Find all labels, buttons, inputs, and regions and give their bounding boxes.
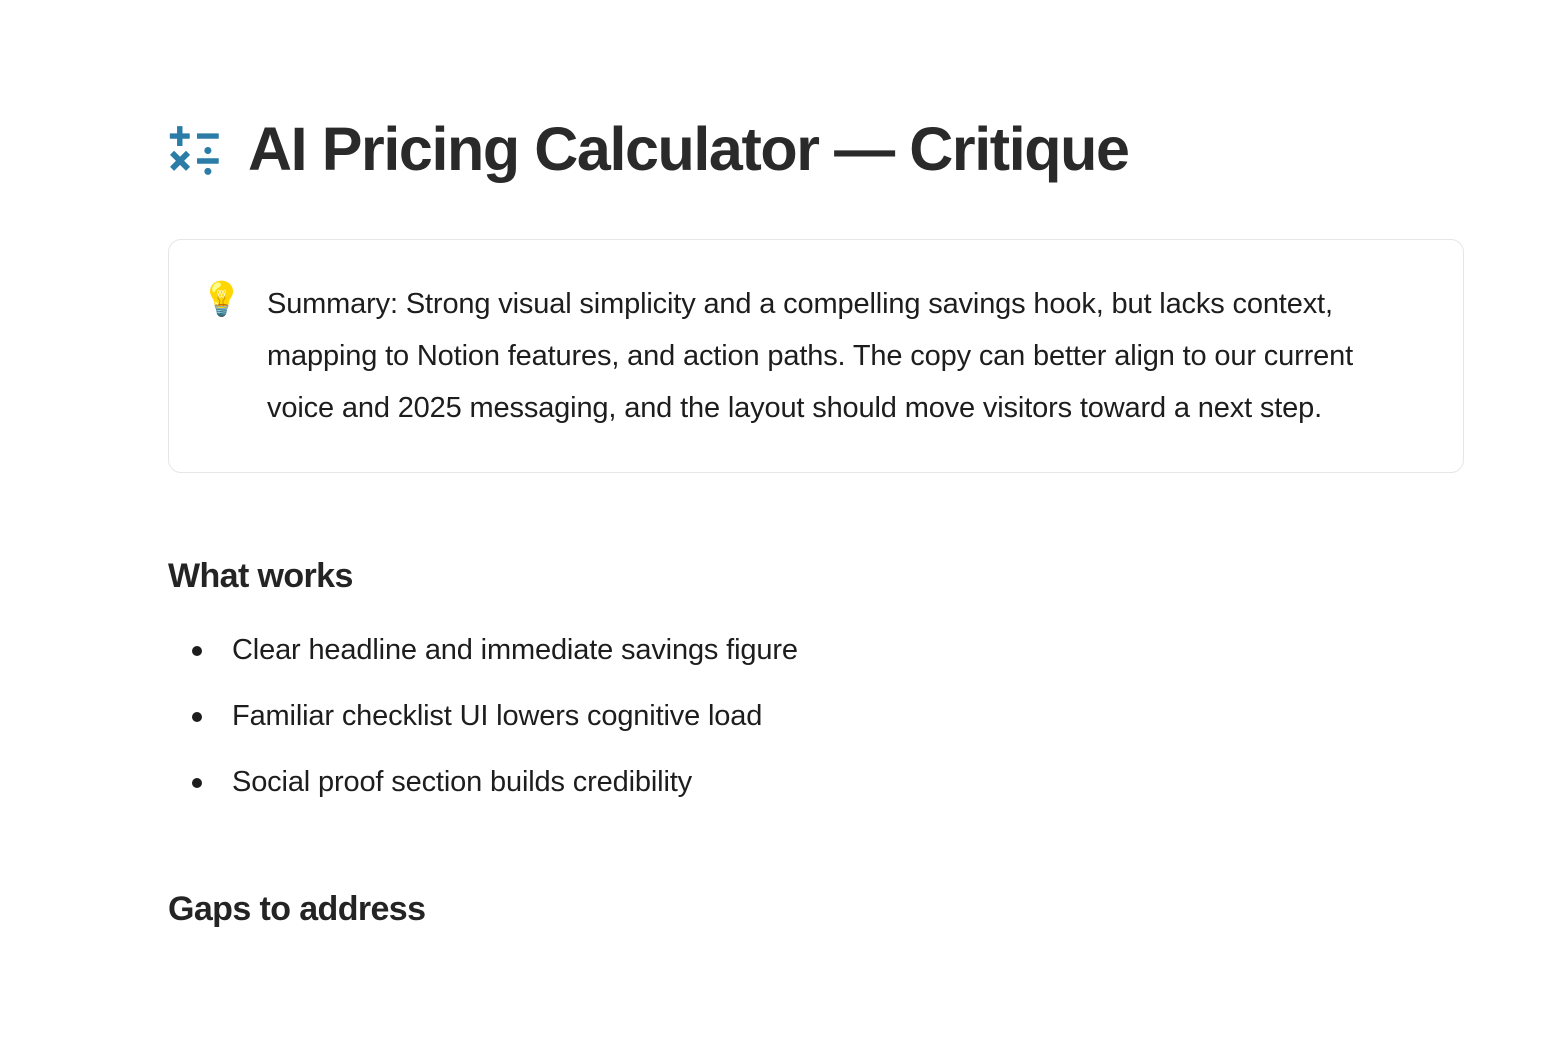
document-content: AI Pricing Calculator — Critique 💡 Summa… bbox=[168, 0, 1464, 929]
page-title: AI Pricing Calculator — Critique bbox=[248, 117, 1129, 181]
page-header: AI Pricing Calculator — Critique bbox=[168, 106, 1464, 192]
bullet-dot-icon bbox=[192, 646, 202, 656]
list-item: Clear headline and immediate savings fig… bbox=[168, 630, 1464, 670]
summary-callout: 💡 Summary: Strong visual simplicity and … bbox=[168, 239, 1464, 473]
section-heading-gaps: Gaps to address bbox=[168, 890, 1464, 929]
document-page: AI Pricing Calculator — Critique 💡 Summa… bbox=[0, 0, 1560, 1040]
math-operators-icon bbox=[168, 122, 226, 180]
list-item: Familiar checklist UI lowers cognitive l… bbox=[168, 696, 1464, 736]
list-item-label: Familiar checklist UI lowers cognitive l… bbox=[232, 700, 762, 732]
what-works-list: Clear headline and immediate savings fig… bbox=[168, 630, 1464, 802]
section-heading-what-works: What works bbox=[168, 557, 1464, 596]
list-item: Social proof section builds credibility bbox=[168, 762, 1464, 802]
list-item-label: Social proof section builds credibility bbox=[232, 766, 692, 798]
light-bulb-emoji: 💡 bbox=[201, 278, 241, 320]
summary-text: Summary: Strong visual simplicity and a … bbox=[267, 278, 1385, 434]
bullet-dot-icon bbox=[192, 778, 202, 788]
list-item-label: Clear headline and immediate savings fig… bbox=[232, 634, 798, 666]
bullet-dot-icon bbox=[192, 712, 202, 722]
